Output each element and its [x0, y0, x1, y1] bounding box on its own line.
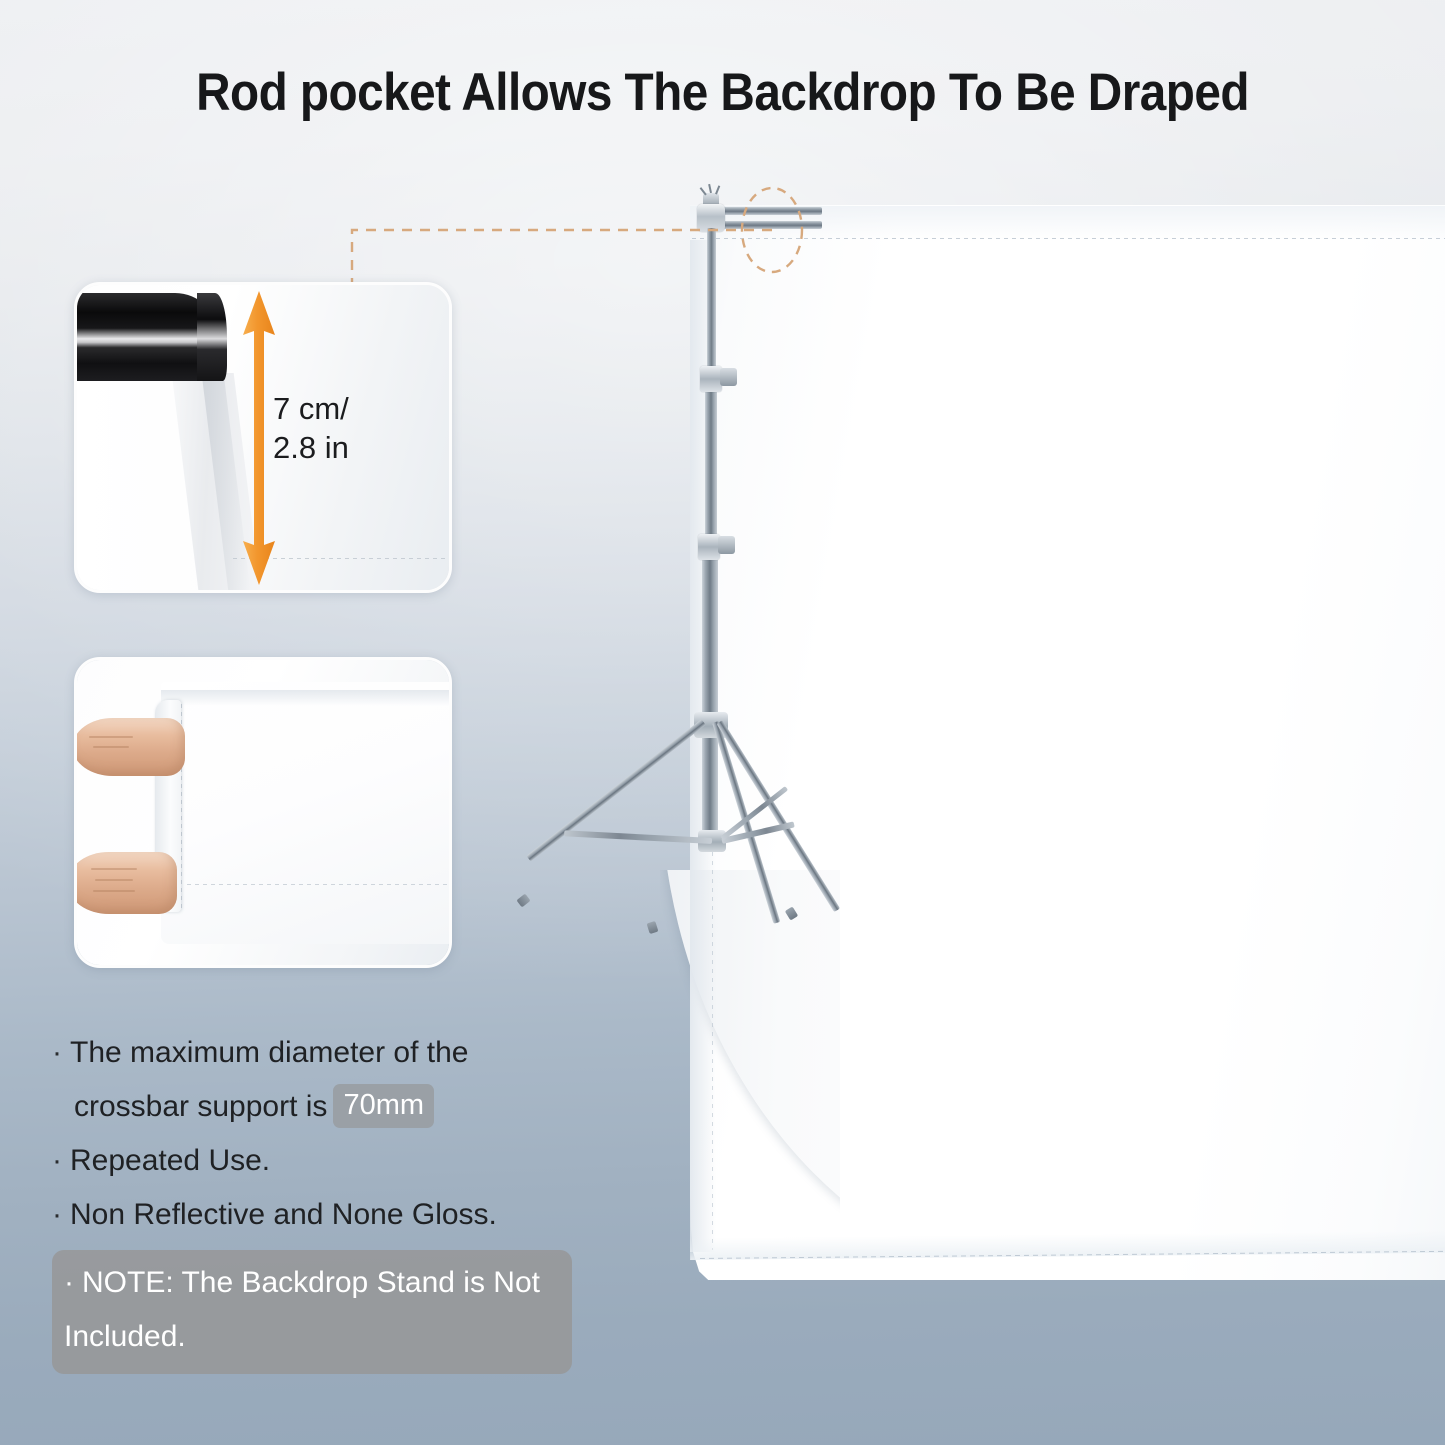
pocket-cloth-top-shade: [161, 690, 452, 706]
finger-upper: [74, 718, 185, 776]
tripod-foot-center: [647, 921, 659, 934]
bullet-item-non-reflective: ·Non Reflective and None Gloss.: [52, 1188, 572, 1242]
page-title: Rod pocket Allows The Backdrop To Be Dra…: [72, 62, 1373, 123]
stand-clamp-lever-lower: [718, 536, 735, 554]
bullet-marker: ·: [52, 1036, 62, 1069]
bullet-item-repeated-use: ·Repeated Use.: [52, 1134, 572, 1188]
tripod-leg-right: [717, 720, 841, 912]
tripod-brace-left: [564, 830, 712, 844]
callout-rod-pocket-depth: 7 cm/ 2.8 in: [74, 282, 452, 593]
stand-clamp-upper: [700, 366, 722, 392]
bullet-text: Repeated Use.: [70, 1144, 270, 1177]
bullet-marker: ·: [52, 1144, 62, 1177]
feature-bullet-list: ·The maximum diameter of the crossbar su…: [52, 1026, 572, 1374]
measurement-label: 7 cm/ 2.8 in: [273, 389, 413, 467]
note-text: NOTE: The Backdrop Stand is Not Included…: [64, 1266, 540, 1353]
bullet-item-diameter: ·The maximum diameter of the: [52, 1026, 572, 1080]
tripod-foot-right: [785, 906, 798, 920]
product-infographic: Rod pocket Allows The Backdrop To Be Dra…: [0, 0, 1445, 1445]
finger-lower: [74, 852, 177, 914]
stand-clamp-lower: [698, 534, 720, 560]
stand-pole-lower: [702, 542, 718, 842]
bullet-text: Non Reflective and None Gloss.: [70, 1198, 497, 1231]
bullet-marker: ·: [52, 1198, 62, 1231]
bullet-item-diameter-line2: crossbar support is70mm: [52, 1080, 572, 1134]
black-rod-end-cap: [197, 293, 227, 381]
bullet-text-line2: crossbar support is: [74, 1090, 327, 1123]
pocket-cloth: [161, 682, 452, 944]
bullet-marker: ·: [64, 1266, 74, 1299]
measurement-line-2: 2.8 in: [273, 428, 413, 467]
pocket-horizontal-stitch: [187, 884, 449, 885]
measurement-line-1: 7 cm/: [273, 389, 413, 428]
tripod-foot-left: [516, 894, 530, 908]
stand-clamp-lever-upper: [720, 368, 737, 386]
callout-rod-pocket-hand: [74, 657, 452, 968]
diameter-value-badge: 70mm: [333, 1084, 434, 1128]
note-highlight-block: ·NOTE: The Backdrop Stand is Not Include…: [52, 1250, 572, 1374]
bullet-text-line1: The maximum diameter of the: [70, 1036, 468, 1069]
stand-pole-middle: [705, 375, 717, 547]
stand-pole-top: [707, 228, 716, 380]
